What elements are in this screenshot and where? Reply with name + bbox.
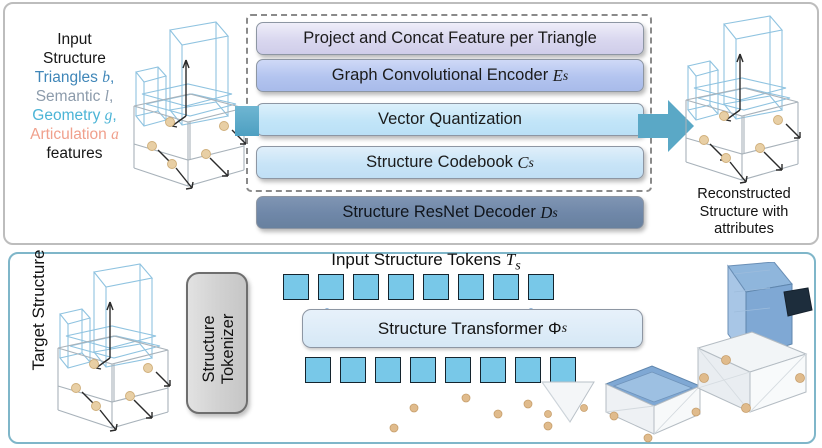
feature-triangles: Triangles b,	[12, 68, 137, 87]
output-token-1[interactable]	[340, 357, 366, 383]
output-token-row	[305, 357, 576, 383]
reconstructed-structure-caption: Reconstructed Structure with attributes	[672, 186, 816, 239]
pipeline-box-1-sub: s	[563, 68, 568, 84]
tokens-title-sub: s	[515, 257, 521, 273]
recon-caption-line3: attributes	[672, 221, 816, 239]
input-token-4[interactable]	[423, 274, 449, 300]
output-token-3[interactable]	[410, 357, 436, 383]
tokenizer-label-line1: Structure	[200, 276, 219, 422]
input-label-line2: Structure	[12, 49, 137, 68]
tokenizer-label-line2: Tokenizer	[219, 276, 238, 422]
pipeline-box-4-sub: s	[552, 205, 557, 221]
input-token-1[interactable]	[318, 274, 344, 300]
input-token-2[interactable]	[353, 274, 379, 300]
transformer-label: Structure Transformer	[378, 319, 543, 339]
pipeline-box-2-label: Vector Quantization	[378, 110, 522, 129]
input-label-features: features	[12, 144, 137, 163]
pipeline-box-graph-conv-encoder[interactable]: Graph Convolutional Encoder Es	[256, 59, 644, 92]
recon-caption-line1: Reconstructed	[672, 186, 816, 204]
reconstructed-structure-3d-illustration	[678, 10, 806, 192]
feature-geometry: Geometry g,	[12, 106, 137, 125]
input-token-7[interactable]	[528, 274, 554, 300]
output-token-5[interactable]	[480, 357, 506, 383]
target-structure-label: Target Structure	[29, 235, 49, 385]
structure-tokenizer-box[interactable]: Structure Tokenizer	[186, 272, 248, 414]
pipeline-box-4-symbol: D	[540, 203, 552, 223]
input-token-5[interactable]	[458, 274, 484, 300]
pipeline-entry-tab	[235, 106, 259, 136]
input-label-line1: Input	[12, 30, 137, 49]
pipeline-box-1-symbol: E	[553, 66, 563, 86]
pipeline-box-resnet-decoder[interactable]: Structure ResNet Decoder Ds	[256, 196, 644, 229]
pipeline-box-project-concat[interactable]: Project and Concat Feature per Triangle	[256, 22, 644, 55]
tokens-title-symbol: T	[506, 250, 515, 269]
recon-caption-line2: Structure with	[672, 204, 816, 222]
pipeline-box-3-symbol: C	[517, 153, 528, 173]
pipeline-box-1-label: Graph Convolutional Encoder	[332, 66, 548, 85]
transformer-symbol: Φ	[548, 319, 562, 339]
output-token-2[interactable]	[375, 357, 401, 383]
pipeline-box-3-label: Structure Codebook	[366, 153, 513, 172]
pipeline-box-4-label: Structure ResNet Decoder	[342, 203, 536, 222]
input-token-6[interactable]	[493, 274, 519, 300]
input-structure-3d-illustration	[128, 18, 250, 198]
feature-articulation: Articulation a	[12, 125, 137, 144]
target-structure-3d-illustration	[52, 262, 174, 437]
full-reconstruction-mesh	[688, 262, 816, 444]
transformer-sub: s	[562, 320, 568, 337]
input-token-row	[283, 274, 554, 300]
output-token-4[interactable]	[445, 357, 471, 383]
structure-tokenizer-label: Structure Tokenizer	[200, 276, 238, 422]
input-structure-tokens-title: Input Structure Tokens Ts	[286, 250, 566, 274]
input-token-3[interactable]	[388, 274, 414, 300]
pipeline-box-3-sub: s	[529, 155, 534, 171]
structure-transformer-box[interactable]: Structure Transformer Φs	[302, 309, 643, 348]
pipeline-box-vector-quantization[interactable]: Vector Quantization	[256, 103, 644, 136]
pipeline-box-0-label: Project and Concat Feature per Triangle	[303, 29, 597, 48]
input-structure-label: Input Structure Triangles b, Semantic l,…	[12, 30, 137, 163]
tokens-title-text: Input Structure Tokens	[331, 250, 501, 269]
feature-semantic: Semantic l,	[12, 87, 137, 106]
output-token-6[interactable]	[515, 357, 541, 383]
input-token-0[interactable]	[283, 274, 309, 300]
pipeline-box-structure-codebook[interactable]: Structure Codebook Cs	[256, 146, 644, 179]
output-token-0[interactable]	[305, 357, 331, 383]
